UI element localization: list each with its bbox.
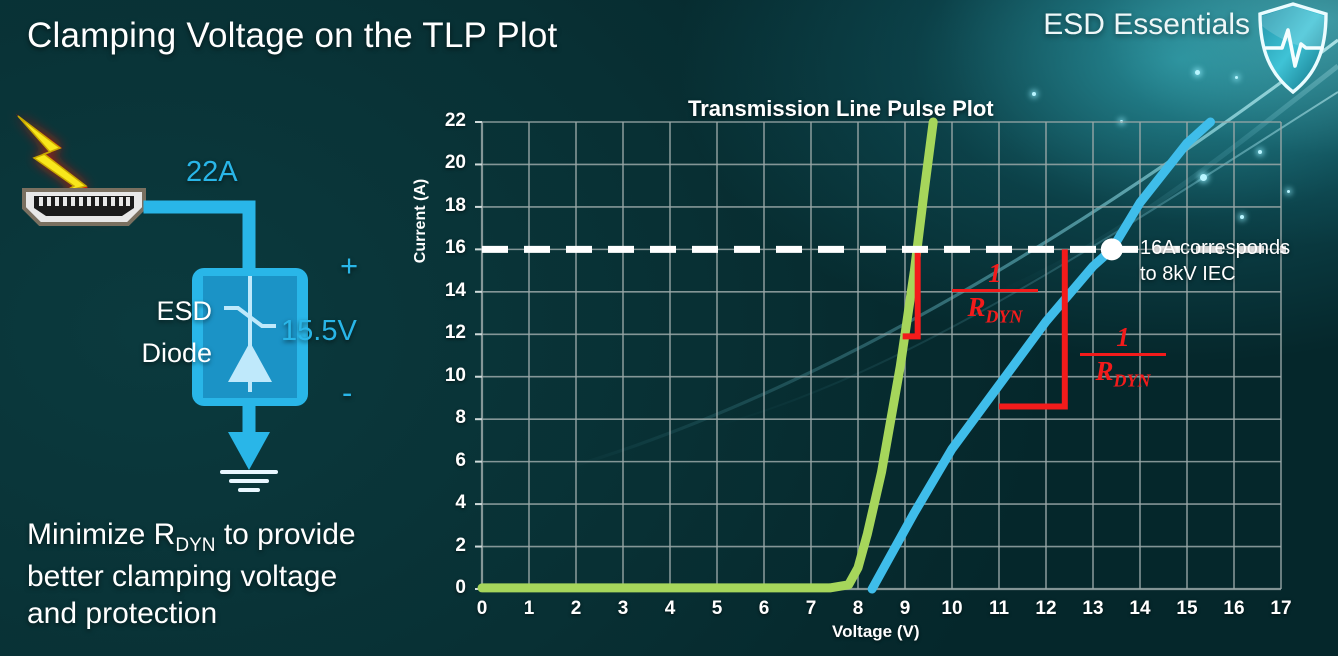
y-tick-label: 8: [426, 407, 466, 429]
slope-annotation-2: 1 RDYN: [1080, 322, 1166, 391]
x-tick-label: 17: [1266, 598, 1296, 620]
x-tick-label: 11: [984, 598, 1014, 620]
x-tick-label: 16: [1219, 598, 1249, 620]
slope-numerator-2: 1: [1080, 322, 1166, 353]
x-tick-label: 7: [796, 598, 826, 620]
x-tick-label: 5: [702, 598, 732, 620]
y-tick-label: 12: [426, 322, 466, 344]
x-tick-label: 2: [561, 598, 591, 620]
y-tick-label: 14: [426, 280, 466, 302]
y-tick-label: 0: [426, 577, 466, 599]
marker-callout-line-1: 16A corresponds: [1140, 236, 1290, 262]
x-tick-label: 14: [1125, 598, 1155, 620]
x-axis-label: Voltage (V): [832, 622, 920, 642]
chart-series-1: [482, 122, 933, 588]
x-tick-label: 13: [1078, 598, 1108, 620]
x-tick-label: 4: [655, 598, 685, 620]
y-tick-label: 6: [426, 450, 466, 472]
slope-numerator-1: 1: [952, 258, 1038, 289]
marker-callout-line-2: to 8kV IEC: [1140, 262, 1290, 288]
y-tick-label: 18: [426, 195, 466, 217]
x-tick-label: 3: [608, 598, 638, 620]
clamping-point-marker: [1101, 238, 1123, 260]
slide-canvas: Clamping Voltage on the TLP Plot ESD Ess…: [0, 0, 1338, 656]
x-tick-label: 10: [937, 598, 967, 620]
x-tick-label: 0: [467, 598, 497, 620]
x-tick-label: 6: [749, 598, 779, 620]
x-tick-label: 1: [514, 598, 544, 620]
y-tick-label: 10: [426, 365, 466, 387]
x-tick-label: 8: [843, 598, 873, 620]
y-axis-label: Current (A): [412, 156, 430, 286]
y-tick-label: 22: [426, 110, 466, 132]
slope-denominator-1: RDYN: [952, 292, 1038, 327]
x-tick-label: 12: [1031, 598, 1061, 620]
tlp-chart: Transmission Line Pulse Plot Current (A)…: [0, 0, 1338, 656]
y-tick-label: 4: [426, 492, 466, 514]
y-tick-label: 2: [426, 535, 466, 557]
y-tick-label: 16: [426, 237, 466, 259]
x-tick-label: 9: [890, 598, 920, 620]
marker-callout: 16A corresponds to 8kV IEC: [1140, 236, 1290, 287]
slope-annotation-1: 1 RDYN: [952, 258, 1038, 327]
x-tick-label: 15: [1172, 598, 1202, 620]
y-tick-label: 20: [426, 152, 466, 174]
slope-denominator-2: RDYN: [1080, 356, 1166, 391]
